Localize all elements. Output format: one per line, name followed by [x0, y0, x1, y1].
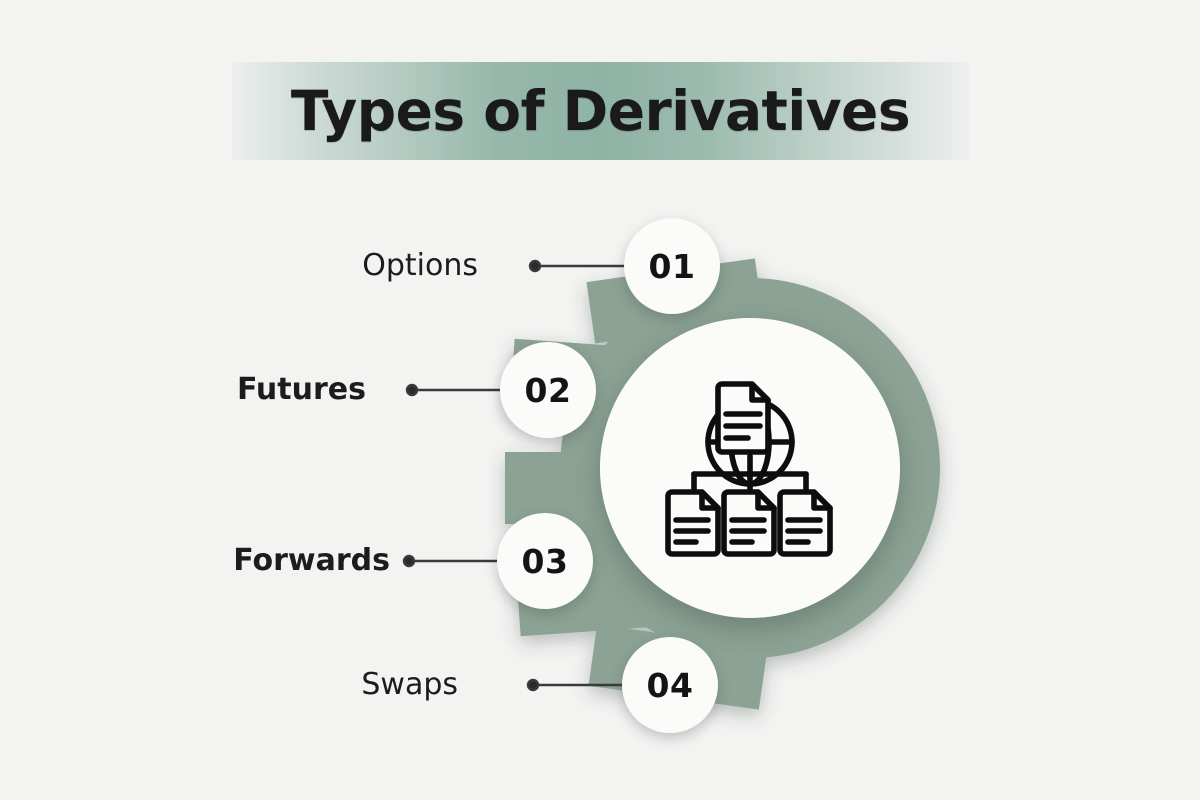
child-document-right — [780, 492, 830, 554]
number-badge-01-text: 01 — [649, 250, 696, 283]
item-label-options: Options — [362, 251, 478, 281]
number-badge-04-text: 04 — [647, 669, 694, 702]
diagram-stage — [0, 0, 1200, 800]
infographic-root: Types of Derivatives — [0, 0, 1200, 800]
number-badge-04[interactable]: 04 — [622, 637, 718, 733]
number-badge-03-text: 03 — [522, 545, 569, 578]
number-badge-02-text: 02 — [525, 374, 572, 407]
document-hierarchy-globe-icon — [664, 368, 836, 558]
child-document-left — [668, 492, 718, 554]
number-badge-01[interactable]: 01 — [624, 218, 720, 314]
item-label-forwards: Forwards — [233, 546, 390, 576]
number-badge-02[interactable]: 02 — [500, 342, 596, 438]
item-label-swaps: Swaps — [361, 670, 458, 700]
parent-document — [718, 384, 768, 452]
number-badge-03[interactable]: 03 — [497, 513, 593, 609]
item-label-futures: Futures — [237, 375, 366, 405]
child-document-center — [724, 492, 774, 554]
